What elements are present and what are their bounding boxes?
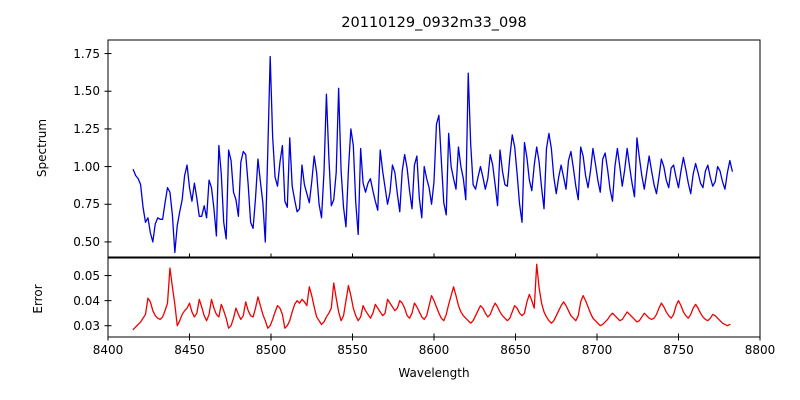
error-panel-frame — [108, 258, 760, 337]
x-tick-label: 8500 — [241, 343, 301, 357]
y-tick-label: 0.05 — [54, 269, 100, 283]
plot-canvas — [0, 0, 800, 400]
error-panel — [105, 258, 761, 341]
y-tick-label: 1.25 — [54, 122, 100, 136]
x-tick-label: 8450 — [160, 343, 220, 357]
error-axis-label: Error — [30, 269, 46, 329]
y-tick-label: 0.50 — [54, 235, 100, 249]
matplotlib-figure: 20110129_0932m33_098 Spectrum Error Wave… — [0, 0, 800, 400]
x-tick-label: 8400 — [78, 343, 138, 357]
y-tick-label: 0.03 — [54, 319, 100, 333]
y-tick-label: 1.50 — [54, 84, 100, 98]
x-tick-label: 8700 — [567, 343, 627, 357]
error-panel-series-line — [133, 264, 730, 329]
y-tick-label: 1.00 — [54, 160, 100, 174]
x-tick-label: 8750 — [649, 343, 709, 357]
y-tick-label: 0.04 — [54, 294, 100, 308]
page-title: 20110129_0932m33_098 — [108, 14, 760, 32]
x-tick-label: 8550 — [323, 343, 383, 357]
x-tick-label: 8600 — [404, 343, 464, 357]
y-tick-label: 1.75 — [54, 47, 100, 61]
spectrum-panel-frame — [108, 40, 760, 257]
spectrum-panel-series-line — [133, 57, 732, 253]
spectrum-panel — [105, 40, 761, 257]
y-tick-label: 0.75 — [54, 197, 100, 211]
x-tick-label: 8650 — [486, 343, 546, 357]
x-tick-label: 8800 — [730, 343, 790, 357]
spectrum-axis-label: Spectrum — [34, 88, 50, 208]
x-axis-label: Wavelength — [108, 366, 760, 380]
